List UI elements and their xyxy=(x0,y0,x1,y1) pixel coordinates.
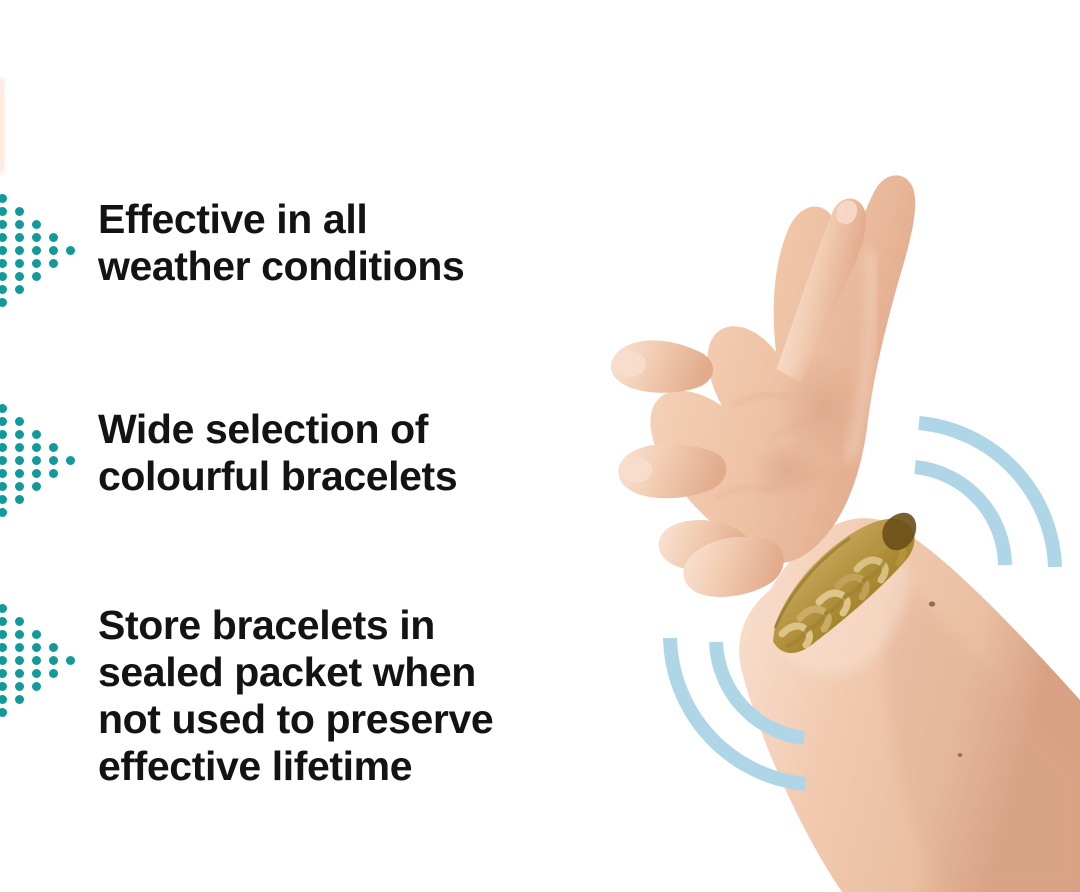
left-edge-sliver xyxy=(0,78,5,174)
arrow-dot xyxy=(15,220,24,229)
arrow-dot xyxy=(15,656,24,665)
arrow-dot xyxy=(32,259,41,268)
infographic-canvas: Effective in all weather conditions Wide… xyxy=(0,0,1080,892)
arrow-dot xyxy=(0,443,7,452)
arrow-dot xyxy=(32,246,41,255)
feature-bullet-3-label: Store bracelets in sealed packet when no… xyxy=(98,600,493,790)
arrow-dot xyxy=(15,233,24,242)
arrow-dot xyxy=(0,430,7,439)
arrow-dot xyxy=(0,456,7,465)
arrow-dot xyxy=(32,456,41,465)
arrow-dot xyxy=(49,456,58,465)
arrow-dot xyxy=(15,482,24,491)
arrow-dot xyxy=(0,643,7,652)
arrow-dot xyxy=(0,220,7,229)
arrow-dot xyxy=(0,469,7,478)
arrow-dot xyxy=(0,656,7,665)
arrow-dot xyxy=(0,233,7,242)
arrow-dot xyxy=(0,495,7,504)
feature-bullet-3: Store bracelets in sealed packet when no… xyxy=(0,600,493,790)
arrow-dot xyxy=(0,272,7,281)
arrow-dot xyxy=(0,194,7,203)
arrow-dot xyxy=(15,443,24,452)
arrow-dot xyxy=(32,220,41,229)
arrow-dot xyxy=(15,272,24,281)
arrow-dot xyxy=(49,643,58,652)
arrow-dot xyxy=(0,482,7,491)
arrow-dot xyxy=(15,469,24,478)
arrow-dot xyxy=(0,708,7,717)
arrow-dot xyxy=(15,285,24,294)
arrow-dot xyxy=(32,656,41,665)
arrow-dot xyxy=(15,643,24,652)
arrow-dot xyxy=(15,682,24,691)
arrow-dot xyxy=(0,207,7,216)
arrow-dot xyxy=(32,469,41,478)
feature-bullet-1: Effective in all weather conditions xyxy=(0,190,464,310)
arrow-dot xyxy=(15,259,24,268)
dotted-arrow-right-icon xyxy=(0,190,76,310)
signal-wave-bottom-left xyxy=(648,608,828,803)
arrow-dot xyxy=(15,207,24,216)
arrow-dot xyxy=(49,656,58,665)
arrow-dot xyxy=(0,246,7,255)
arrow-dot xyxy=(15,246,24,255)
arrow-dot xyxy=(0,417,7,426)
arrow-dot xyxy=(66,456,75,465)
arrow-dot xyxy=(15,430,24,439)
arrow-dot xyxy=(66,246,75,255)
arrow-dot xyxy=(49,233,58,242)
arrow-dot xyxy=(0,695,7,704)
feature-bullet-2: Wide selection of colourful bracelets xyxy=(0,400,457,520)
arrow-dot xyxy=(32,643,41,652)
arrow-dot xyxy=(0,669,7,678)
arrow-dot xyxy=(49,469,58,478)
dotted-arrow-right-icon xyxy=(0,600,76,720)
arrow-dot xyxy=(0,298,7,307)
arrow-dot xyxy=(49,259,58,268)
feature-bullet-1-label: Effective in all weather conditions xyxy=(98,190,464,290)
dotted-arrow-right-icon xyxy=(0,400,76,520)
arrow-dot xyxy=(15,695,24,704)
arrow-dot xyxy=(15,617,24,626)
arrow-dot xyxy=(0,259,7,268)
signal-wave-top-right xyxy=(905,405,1080,605)
arrow-dot xyxy=(0,285,7,294)
arrow-dot xyxy=(15,630,24,639)
arrow-dot xyxy=(0,604,7,613)
arrow-dot xyxy=(49,443,58,452)
arrow-dot xyxy=(32,630,41,639)
arrow-dot xyxy=(32,443,41,452)
arrow-dot xyxy=(15,456,24,465)
arrow-dot xyxy=(49,246,58,255)
arrow-dot xyxy=(15,417,24,426)
arrow-dot xyxy=(32,682,41,691)
arrow-dot xyxy=(32,233,41,242)
arrow-dot xyxy=(0,404,7,413)
arrow-dot xyxy=(49,669,58,678)
arrow-dot xyxy=(66,656,75,665)
arrow-dot xyxy=(32,482,41,491)
arrow-dot xyxy=(32,272,41,281)
arrow-dot xyxy=(32,669,41,678)
arrow-dot xyxy=(15,495,24,504)
arrow-dot xyxy=(32,430,41,439)
arrow-dot xyxy=(0,682,7,691)
arrow-dot xyxy=(0,617,7,626)
feature-bullet-2-label: Wide selection of colourful bracelets xyxy=(98,400,457,500)
arrow-dot xyxy=(0,508,7,517)
arrow-dot xyxy=(0,630,7,639)
arrow-dot xyxy=(15,669,24,678)
